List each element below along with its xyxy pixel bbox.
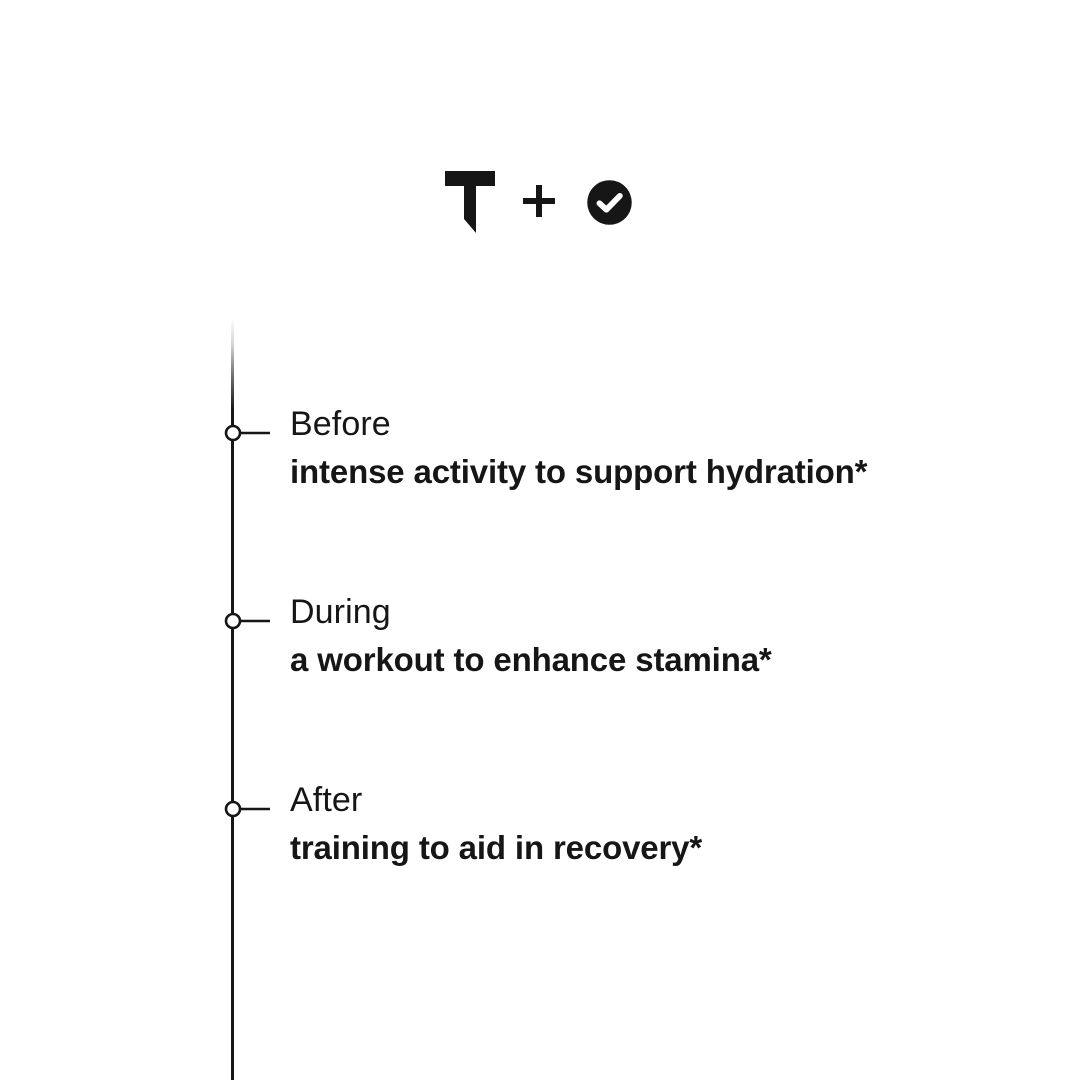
- timeline-step-content: Before intense activity to support hydra…: [290, 402, 1030, 494]
- timeline-node-marker-icon: [224, 424, 276, 442]
- timeline-step-content: During a workout to enhance stamina*: [290, 590, 1030, 682]
- timeline-step-phase: During: [290, 590, 1030, 634]
- timeline-step-detail: intense activity to support hydration*: [290, 450, 1030, 494]
- timeline: Before intense activity to support hydra…: [0, 0, 1080, 1080]
- timeline-step-detail: a workout to enhance stamina*: [290, 638, 1030, 682]
- timeline-step-detail: training to aid in recovery*: [290, 826, 1030, 870]
- timeline-node-marker-icon: [224, 800, 276, 818]
- timeline-node-marker-icon: [224, 612, 276, 630]
- timeline-step-phase: After: [290, 778, 1030, 822]
- timeline-step-content: After training to aid in recovery*: [290, 778, 1030, 870]
- timeline-step-phase: Before: [290, 402, 1030, 446]
